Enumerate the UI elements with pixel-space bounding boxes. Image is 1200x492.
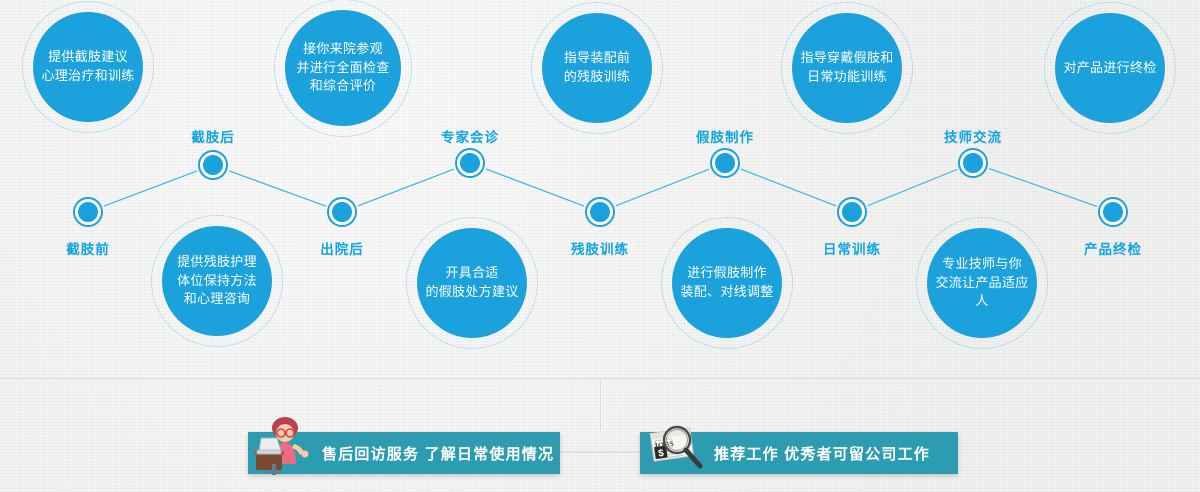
bubble-pre-fit-training-text: 指导装配前 的残肢训练 — [556, 49, 639, 87]
node-technician-talk[interactable] — [960, 150, 986, 176]
connector-prosthesis-make-to-daily-training — [741, 169, 836, 206]
banner-after-sales[interactable]: 售后回访服务 了解日常使用情况 — [248, 432, 560, 474]
connector-stump-training-to-prosthesis-make — [616, 169, 709, 206]
bubble-amputation-advice-text: 提供截肢建议 心理治疗和训练 — [33, 48, 142, 86]
node-final-check[interactable] — [1100, 199, 1126, 225]
bubble-hospital-visit[interactable]: 接你来院参观 并进行全面检查 和综合评价 — [285, 10, 401, 126]
node-label-prosthesis-make: 假肢制作 — [696, 126, 754, 146]
node-post-discharge[interactable] — [329, 199, 355, 225]
banner-job-recommendation[interactable]: JOBS $ 推荐工作 优秀者可留公司工作 — [640, 432, 958, 474]
node-daily-training[interactable] — [839, 199, 865, 225]
node-label-post-amputation: 截肢后 — [191, 126, 235, 146]
node-prosthesis-make[interactable] — [712, 150, 738, 176]
node-expert-consult[interactable] — [457, 150, 483, 176]
bubble-manufacture[interactable]: 进行假肢制作 装配、对线调整 — [672, 228, 782, 338]
bubble-technician-fit[interactable]: 专业技师与你 交流让产品适应人 — [927, 228, 1037, 338]
node-post-amputation[interactable] — [200, 152, 226, 178]
banner-job-recommendation-text: 推荐工作 优秀者可留公司工作 — [714, 443, 930, 464]
jobs-magnifier-icon: JOBS $ — [646, 414, 708, 476]
bubble-technician-fit-text: 专业技师与你 交流让产品适应人 — [927, 255, 1037, 312]
bubble-manufacture-text: 进行假肢制作 装配、对线调整 — [672, 264, 781, 302]
node-label-technician-talk: 技师交流 — [944, 126, 1002, 146]
connector-pre-amputation-to-post-amputation — [104, 171, 197, 206]
node-label-post-discharge: 出院后 — [320, 238, 364, 258]
bubble-prescription[interactable]: 开具合适 的假肢处方建议 — [417, 228, 527, 338]
connector-expert-consult-to-stump-training — [486, 169, 584, 206]
node-label-expert-consult: 专家会诊 — [441, 126, 499, 146]
bubble-stump-care[interactable]: 提供残肢护理 体位保持方法 和心理咨询 — [162, 226, 272, 336]
connector-post-amputation-to-post-discharge — [229, 171, 326, 206]
bubble-hospital-visit-text: 接你来院参观 并进行全面检查 和综合评价 — [288, 40, 397, 97]
bubble-stump-care-text: 提供残肢护理 体位保持方法 和心理咨询 — [169, 253, 265, 310]
connector-daily-training-to-technician-talk — [868, 169, 957, 205]
node-label-final-check: 产品终检 — [1084, 238, 1142, 258]
node-label-daily-training: 日常训练 — [823, 238, 881, 258]
bubble-wear-guidance-text: 指导穿戴假肢和 日常功能训练 — [792, 49, 901, 87]
bubble-wear-guidance[interactable]: 指导穿戴假肢和 日常功能训练 — [792, 13, 902, 123]
connector-technician-talk-to-final-check — [989, 169, 1097, 207]
bubble-pre-fit-training[interactable]: 指导装配前 的残肢训练 — [542, 13, 652, 123]
node-stump-training[interactable] — [587, 199, 613, 225]
node-label-pre-amputation: 截肢前 — [66, 238, 110, 258]
node-label-stump-training: 残肢训练 — [571, 238, 629, 258]
bubble-amputation-advice[interactable]: 提供截肢建议 心理治疗和训练 — [33, 12, 143, 122]
bubble-final-inspection[interactable]: 对产品进行终检 — [1055, 13, 1165, 123]
woman-at-desk-icon — [254, 414, 316, 476]
bubble-prescription-text: 开具合适 的假肢处方建议 — [417, 264, 526, 302]
bubble-final-inspection-text: 对产品进行终检 — [1055, 59, 1164, 78]
node-pre-amputation[interactable] — [75, 199, 101, 225]
connector-post-discharge-to-expert-consult — [358, 169, 454, 206]
banner-after-sales-text: 售后回访服务 了解日常使用情况 — [322, 443, 554, 464]
